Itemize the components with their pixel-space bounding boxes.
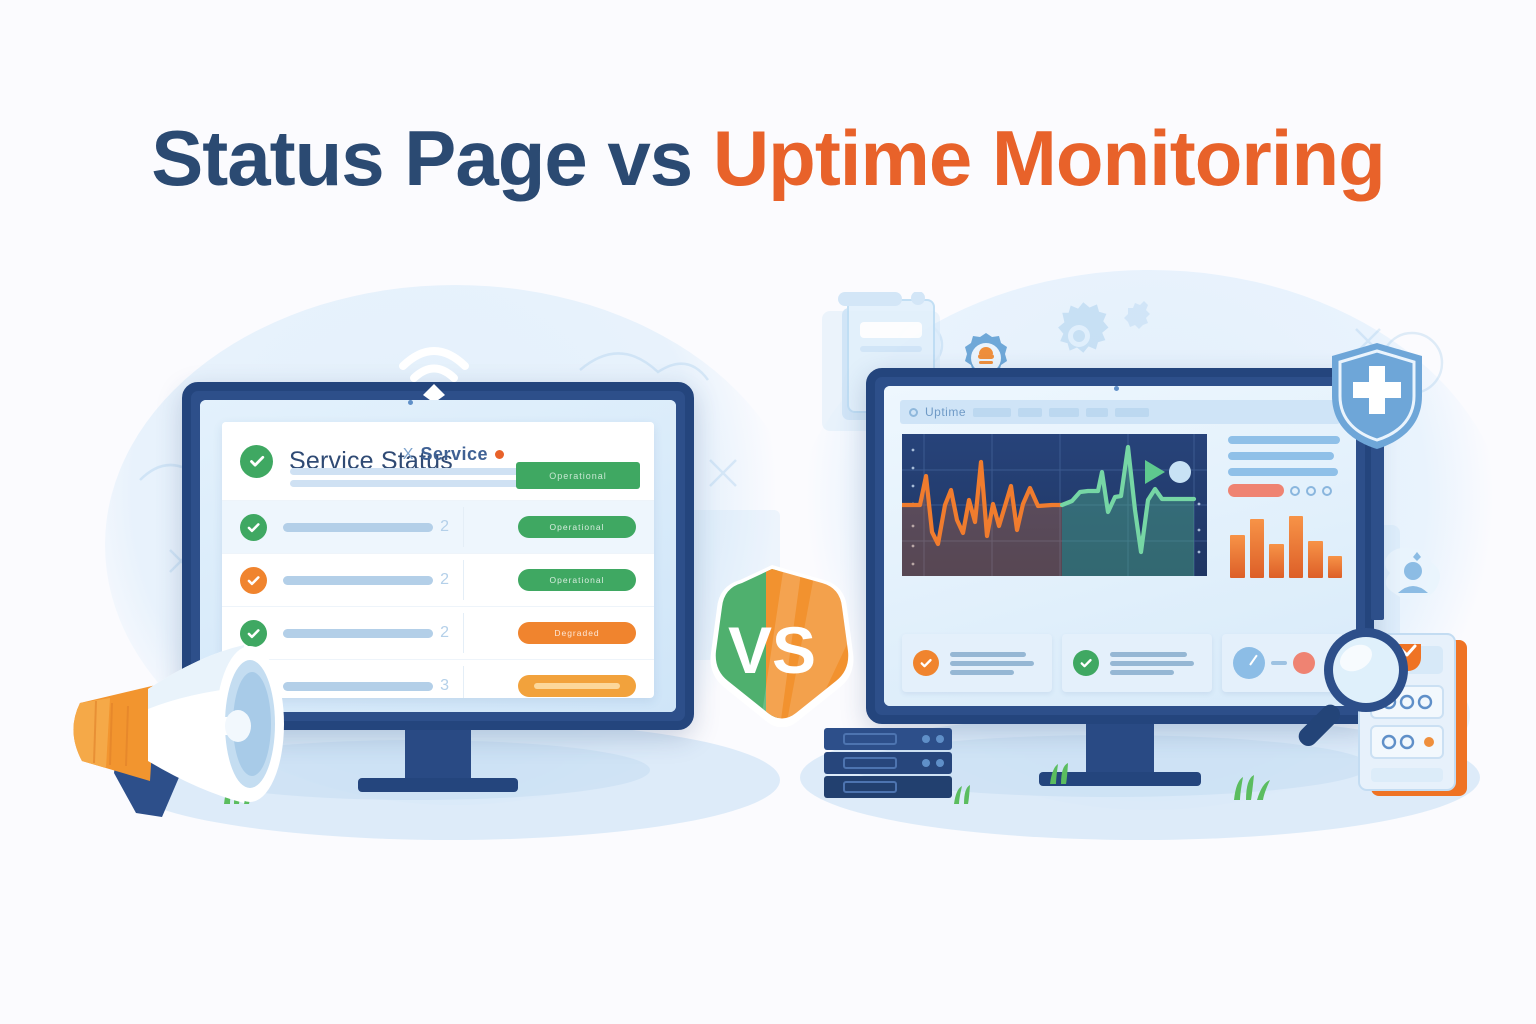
grass-icon <box>1228 772 1274 800</box>
play-marker-icon <box>1145 460 1165 484</box>
grass-icon <box>1046 760 1086 784</box>
headline: Status Page vs Uptime Monitoring <box>0 118 1536 200</box>
check-circle-icon <box>1073 650 1099 676</box>
status-card[interactable] <box>902 634 1052 692</box>
magnifying-glass-icon <box>1290 620 1420 750</box>
dashboard-toolbar[interactable]: Uptime <box>900 400 1340 424</box>
brand-name-label: Service <box>420 444 488 465</box>
monitor-neck <box>405 730 471 778</box>
dashboard-status-cards <box>902 634 1344 692</box>
row-status-label: Operational <box>550 522 605 532</box>
uptime-line-chart <box>902 434 1207 576</box>
monitor-neck <box>1086 724 1154 772</box>
toolbar-label: Uptime <box>925 405 966 419</box>
illustration-canvas: Service Status X Service <box>0 0 1536 1024</box>
row-value: 2 <box>440 571 449 589</box>
chart-dot-icon <box>1169 461 1191 483</box>
row-status-pill[interactable]: Operational <box>518 516 636 538</box>
row-value: 3 <box>440 677 449 695</box>
shield-plus-icon <box>1328 340 1426 452</box>
wifi-icon <box>395 340 473 400</box>
status-check-icon <box>240 445 273 478</box>
server-stack-icon <box>820 726 960 804</box>
table-row[interactable]: 2 Operational <box>222 500 654 553</box>
brand-x-label: X <box>403 446 414 464</box>
user-badge-icon <box>1378 545 1448 607</box>
alert-pill <box>1228 484 1284 497</box>
headline-part-orange: Uptime Monitoring <box>713 114 1385 202</box>
row-status-pill[interactable] <box>518 675 636 697</box>
row-status-label: Degraded <box>554 628 599 638</box>
monitor-base <box>358 778 518 792</box>
vs-label: VS <box>728 613 816 687</box>
versus-shield-badge: VS <box>688 565 856 727</box>
brand-dot-icon <box>495 450 504 459</box>
status-panel-header: Service Status X Service <box>222 422 654 500</box>
gauge-icon <box>1233 647 1265 679</box>
row-status-pill[interactable]: Degraded <box>518 622 636 644</box>
row-status-pill[interactable]: Operational <box>518 569 636 591</box>
headline-part-navy: Status Page vs <box>151 114 713 202</box>
header-status-label: Operational <box>549 471 607 481</box>
header-status-pill[interactable]: Operational <box>516 462 640 489</box>
brand-mark: X Service <box>403 444 504 465</box>
page-title-block: Status Page vs Uptime Monitoring <box>0 118 1536 200</box>
row-check-icon <box>240 514 267 541</box>
line-chart-svg <box>902 434 1207 576</box>
header-placeholder-bars <box>290 468 552 492</box>
status-card[interactable] <box>1062 634 1212 692</box>
toolbar-circle-icon <box>909 408 918 417</box>
dashboard-side-lines <box>1228 436 1344 497</box>
shield-pole <box>1371 430 1384 620</box>
megaphone-icon <box>60 625 325 820</box>
table-row[interactable]: 2 Operational <box>222 553 654 606</box>
row-check-icon <box>240 567 267 594</box>
row-value: 2 <box>440 518 449 536</box>
row-status-label: Operational <box>550 575 605 585</box>
check-circle-icon <box>913 650 939 676</box>
row-value: 2 <box>440 624 449 642</box>
uptime-bar-chart <box>1230 516 1342 578</box>
grass-icon <box>950 782 984 804</box>
uptime-dashboard-screen: Uptime <box>884 386 1356 706</box>
